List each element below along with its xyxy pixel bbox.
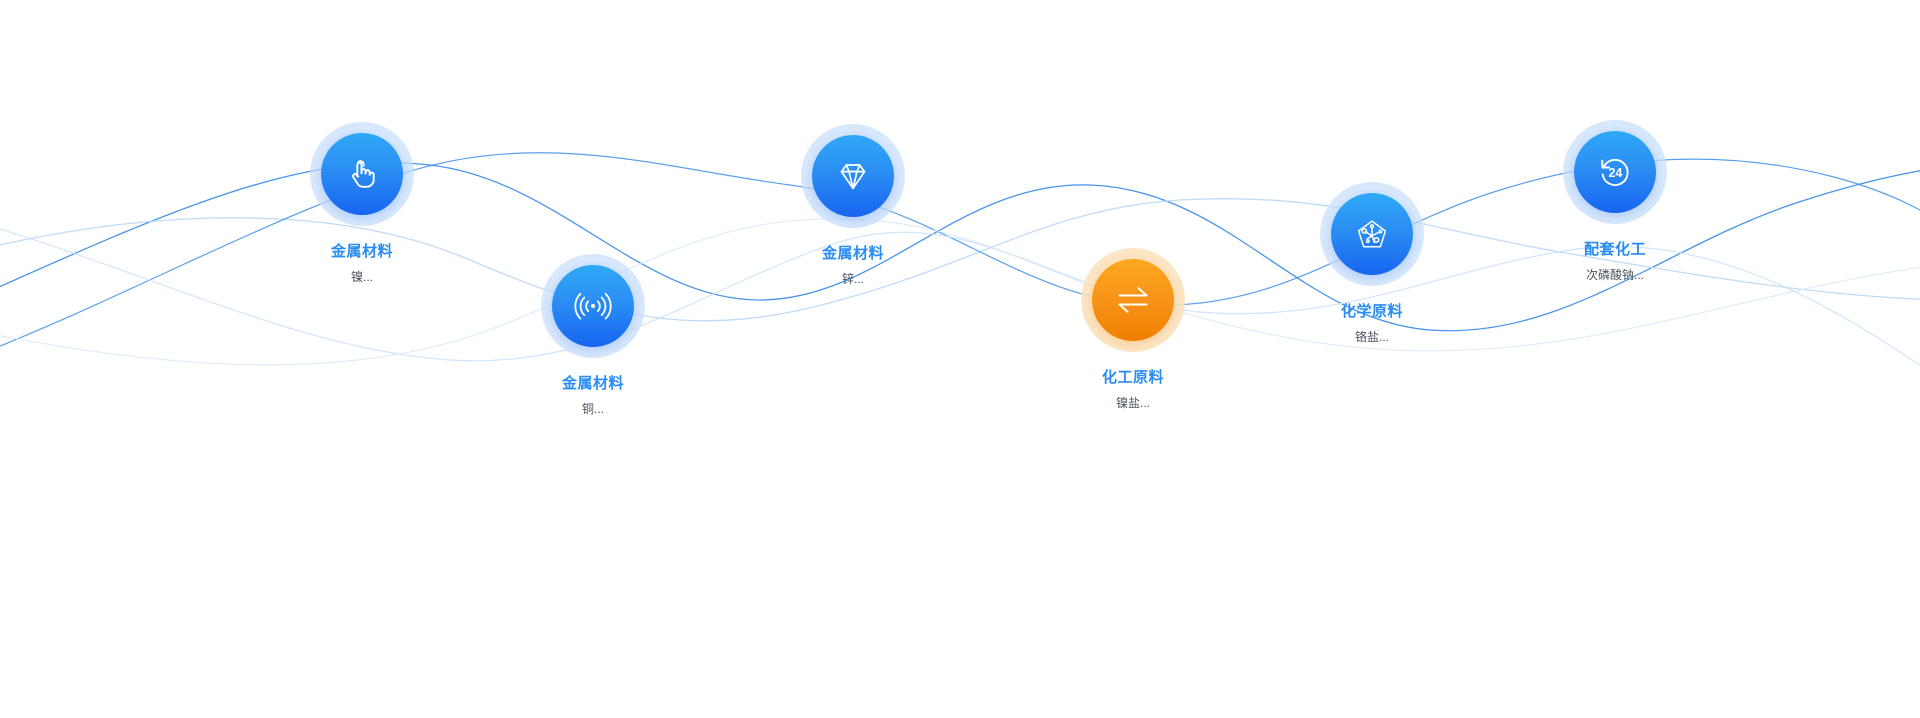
node-title: 化工原料 xyxy=(1023,368,1243,388)
node-disc[interactable] xyxy=(321,133,403,215)
node-title: 金属材料 xyxy=(252,242,472,262)
node-metal-copper[interactable]: 金属材料铜... xyxy=(483,254,703,418)
node-disc-wrap[interactable] xyxy=(541,254,645,358)
node-subtitle: 次磷酸钠... xyxy=(1505,267,1725,284)
node-disc[interactable] xyxy=(552,265,634,347)
exchange-arrows-icon xyxy=(1111,278,1155,322)
svg-text:24: 24 xyxy=(1608,166,1622,180)
node-disc[interactable] xyxy=(1092,259,1174,341)
node-disc[interactable] xyxy=(812,135,894,217)
node-title: 金属材料 xyxy=(743,244,963,264)
background-curves xyxy=(0,0,1920,718)
node-subtitle: 铜... xyxy=(483,401,703,418)
node-disc-wrap[interactable] xyxy=(801,124,905,228)
diamond-icon xyxy=(833,156,873,196)
node-chemical-nickel-salt[interactable]: 化工原料镍盐... xyxy=(1023,248,1243,412)
node-title: 化学原料 xyxy=(1262,302,1482,322)
node-disc-wrap[interactable] xyxy=(1081,248,1185,352)
node-disc-wrap[interactable] xyxy=(310,122,414,226)
node-title: 金属材料 xyxy=(483,374,703,394)
diagram-canvas: 金属材料镍... 金属材料铜... 金属材料锌... 化工原料镍盐... xyxy=(0,0,1920,718)
node-subtitle: 锌... xyxy=(743,271,963,288)
hand-click-icon xyxy=(342,154,382,194)
node-disc-wrap[interactable]: 24 xyxy=(1563,120,1667,224)
node-title: 配套化工 xyxy=(1505,240,1725,260)
node-subtitle: 铬盐... xyxy=(1262,329,1482,346)
node-disc[interactable]: 24 xyxy=(1574,131,1656,213)
node-subtitle: 镍... xyxy=(252,269,472,286)
radar-signal-icon xyxy=(572,285,614,327)
node-chemical-chrome-salt[interactable]: 化学原料铬盐... xyxy=(1262,182,1482,346)
node-supporting-chemical[interactable]: 24 配套化工次磷酸钠... xyxy=(1505,120,1725,284)
node-metal-zinc[interactable]: 金属材料锌... xyxy=(743,124,963,288)
molecule-pentagon-icon xyxy=(1352,214,1392,254)
node-metal-nickel[interactable]: 金属材料镍... xyxy=(252,122,472,286)
node-disc-wrap[interactable] xyxy=(1320,182,1424,286)
node-subtitle: 镍盐... xyxy=(1023,395,1243,412)
clock-24-icon: 24 xyxy=(1594,151,1636,193)
node-disc[interactable] xyxy=(1331,193,1413,275)
